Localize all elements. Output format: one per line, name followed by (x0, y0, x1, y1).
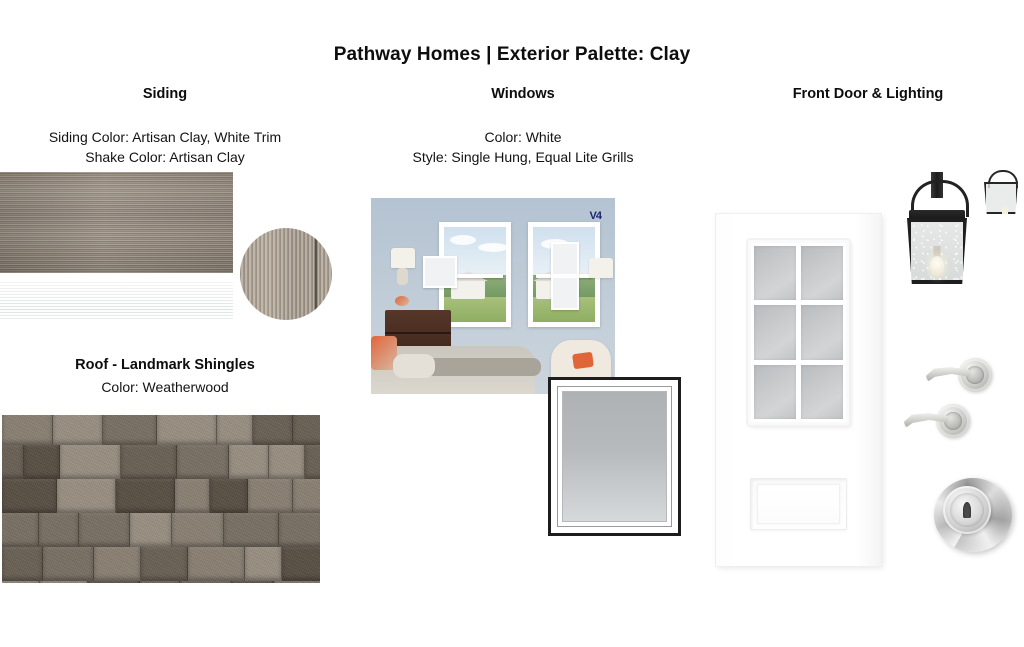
window-lite (600, 395, 630, 423)
door-lever-lower (904, 404, 970, 444)
front-door (716, 214, 881, 566)
shingle-tab (180, 581, 232, 583)
shingle-tab (245, 547, 282, 581)
siding-color-line: Siding Color: Artisan Clay, White Trim (10, 127, 320, 147)
shingle-tab (175, 479, 210, 513)
window-lite (566, 427, 596, 455)
shingle-tab (2, 547, 43, 581)
photo-wall-art-lower-right (551, 276, 579, 310)
roof-heading: Roof - Landmark Shingles (10, 357, 320, 373)
shingle-tab (224, 513, 279, 547)
shingle-tab (188, 547, 245, 581)
lantern-glass-body (907, 218, 967, 284)
front-door-lite (801, 305, 843, 359)
shingle-tab (130, 513, 172, 547)
window-lite (566, 395, 596, 423)
shingle-tab (116, 479, 175, 513)
shingle-tab (88, 581, 140, 583)
window-diagram-inner-frame (557, 386, 672, 527)
windows-spec-text: Color: White Style: Single Hung, Equal L… (368, 127, 678, 167)
shingle-tab (253, 415, 293, 445)
shingle-tab (121, 445, 177, 479)
shingle-tab (140, 581, 180, 583)
front-door-lite (754, 365, 796, 419)
deadbolt-lock (934, 478, 1012, 552)
photo-wall-art-upper-right (551, 242, 579, 276)
window-grill-diagram (548, 377, 681, 536)
front-door-lite (801, 246, 843, 300)
shingle-row (2, 581, 320, 583)
shingle-row (2, 445, 320, 479)
window-lite (600, 427, 630, 455)
shingle-row (2, 547, 320, 581)
photo-wall-art-left (423, 256, 457, 288)
shingle-tab (269, 445, 305, 479)
lantern-thumbnail-body (984, 182, 1018, 214)
shingle-tab (229, 445, 269, 479)
window-lite (633, 427, 663, 455)
shingle-tab (60, 445, 121, 479)
shingle-tab (305, 445, 320, 479)
shingle-tab (2, 513, 39, 547)
shingle-row (2, 513, 320, 547)
front-door-raised-panel (750, 478, 847, 530)
shingle-tab (157, 415, 217, 445)
shingle-tab (24, 445, 60, 479)
weatherwood-shingle-swatch (2, 415, 320, 583)
bedroom-window-photo: V4 (371, 198, 615, 394)
shingle-tab (2, 479, 57, 513)
front-door-lite (754, 305, 796, 359)
photo-decor-vase (395, 296, 409, 306)
door-lever-upper (926, 358, 992, 398)
front-door-lite (754, 246, 796, 300)
shingle-tab (210, 479, 248, 513)
shingle-tab (103, 415, 157, 445)
outdoor-lantern-sconce (903, 172, 971, 292)
shingle-tab (40, 581, 88, 583)
section-heading-windows: Windows (398, 86, 648, 102)
lantern-edison-bulb (930, 256, 944, 276)
photo-lamp-right-shade (589, 258, 613, 278)
shingle-row (2, 415, 320, 445)
door-lever-handles (904, 358, 1004, 452)
lantern-thumbnail (982, 168, 1024, 220)
window-lite (600, 490, 630, 518)
shingle-row (2, 479, 320, 513)
window-color-line: Color: White (368, 127, 678, 147)
shingle-tab (43, 547, 94, 581)
clay-lap-siding-swatch (0, 172, 233, 273)
shingle-tab (57, 479, 116, 513)
front-door-glass (754, 246, 843, 419)
shake-swatch-circle (240, 228, 332, 320)
palette-board: Pathway Homes | Exterior Palette: Clay S… (0, 0, 1024, 647)
window-lite (566, 490, 596, 518)
window-lite (633, 395, 663, 423)
window-lite (566, 459, 596, 487)
shake-color-line: Shake Color: Artisan Clay (10, 147, 320, 167)
front-door-lite (801, 365, 843, 419)
window-diagram-glass (562, 391, 667, 522)
front-door-lite-frame (748, 240, 849, 425)
shingle-tab (172, 513, 224, 547)
window-lite (633, 490, 663, 518)
photo-watermark: V4 (590, 210, 601, 222)
shingle-tab (94, 547, 141, 581)
section-heading-siding: Siding (40, 86, 290, 102)
photo-lamp-left-shade (391, 248, 415, 268)
photo-bed-pillow (393, 354, 435, 378)
window-style-line: Style: Single Hung, Equal Lite Grills (368, 147, 678, 167)
shingle-tab (2, 445, 24, 479)
shingle-tab (282, 547, 320, 581)
photo-armchair-pillow (572, 352, 594, 370)
shingle-tab (39, 513, 79, 547)
shingle-tab (232, 581, 274, 583)
shingle-tab (274, 581, 320, 583)
shingle-tab (293, 415, 320, 445)
shingle-tab (141, 547, 188, 581)
shingle-tab (177, 445, 229, 479)
shingle-tab (279, 513, 320, 547)
photo-lamp-left-base (397, 268, 408, 285)
shingle-tab (293, 479, 320, 513)
window-lite (600, 459, 630, 487)
shingle-tab (217, 415, 253, 445)
shingle-tab (248, 479, 293, 513)
shingle-tab (53, 415, 103, 445)
lantern-thumbnail-bulb (1002, 206, 1008, 218)
page-title: Pathway Homes | Exterior Palette: Clay (0, 44, 1024, 66)
shingle-tab (2, 415, 53, 445)
roof-color-line: Color: Weatherwood (10, 379, 320, 395)
shake-seam-line (314, 228, 318, 320)
shingle-tab (79, 513, 130, 547)
section-heading-front-door-lighting: Front Door & Lighting (743, 86, 993, 102)
siding-spec-text: Siding Color: Artisan Clay, White Trim S… (10, 127, 320, 167)
deadbolt-keyway (963, 502, 971, 518)
shingle-tab (2, 581, 40, 583)
white-trim-board-swatch (0, 282, 233, 319)
window-lite (633, 459, 663, 487)
